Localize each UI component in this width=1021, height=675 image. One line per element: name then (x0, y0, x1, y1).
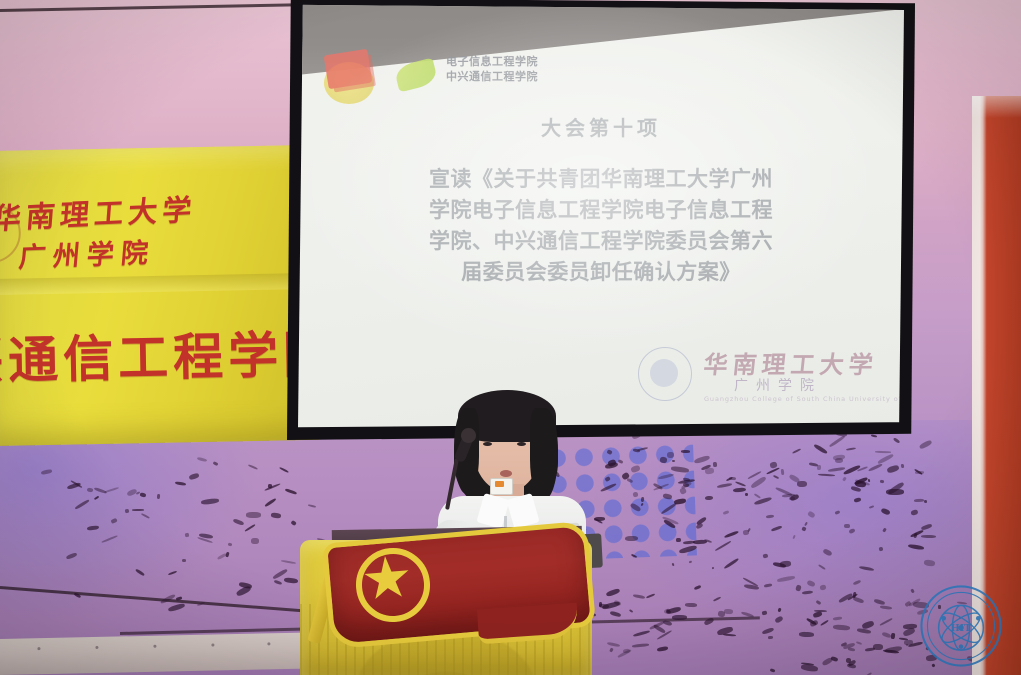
slide-body-line-4: 届委员会委员卸任确认方案》 (394, 257, 808, 288)
wall-speckle (799, 631, 815, 636)
speaker-eye-right (517, 442, 526, 446)
speaker-shirt-badge (490, 478, 513, 495)
wall-speckle (713, 462, 717, 467)
speaker-mouth (500, 470, 512, 477)
logo-wordmark: 电子信息工程学院 中兴通信工程学院 (446, 54, 538, 84)
slide-body-line-2: 学院电子信息工程学院电子信息工程 (394, 195, 808, 226)
logo-book-icon (324, 49, 373, 89)
wall-speckle (705, 467, 715, 474)
atom-emblem-icon: HIT (918, 583, 1004, 669)
svg-text:HIT: HIT (951, 623, 971, 634)
wall-speckle (921, 535, 936, 538)
university-seal-icon (638, 347, 692, 401)
university-english-name: Guangzhou College of South China Univers… (704, 395, 904, 403)
microphone-head (461, 428, 476, 443)
wall-speckle (125, 508, 130, 513)
wall-speckle (251, 537, 259, 543)
logo-wordmark-line1: 电子信息工程学院 (446, 54, 538, 69)
corner-watermark-emblem: HIT (918, 583, 1004, 669)
youth-league-flag-emblem (318, 530, 586, 640)
wall-speckle (676, 538, 681, 543)
wall-speckle (875, 450, 891, 452)
slide-department-logo: 电子信息工程学院 中兴通信工程学院 (324, 48, 574, 102)
wall-speckle (781, 469, 785, 475)
yellow-wall-banner: 华南理工大学 广州学院 兴通信工程学院 (0, 145, 319, 446)
flag-lower-fold (477, 603, 579, 645)
photo-scene: 华南理工大学 广州学院 兴通信工程学院 电子信息工程学院 中兴通信工程学院 大会… (0, 0, 1021, 675)
wall-speckle (132, 509, 144, 511)
wall-speckle (268, 484, 272, 488)
wall-speckle (87, 487, 94, 492)
logo-leaf-icon (393, 58, 438, 93)
wall-speckle (666, 452, 673, 458)
wall-speckle (886, 489, 904, 495)
banner-college-name: 广州学院 (17, 231, 157, 275)
slide-university-logo: 华南理工大学 广州学院 Guangzhou College of South C… (638, 345, 878, 407)
university-college: 广州学院 (734, 375, 822, 395)
projector-screen: 电子信息工程学院 中兴通信工程学院 大会第十项 宣读《关于共青团华南理工大学广州… (298, 4, 904, 429)
slide-body-line-3: 学院、中兴通信工程学院委员会第六 (394, 226, 808, 257)
banner-university-name: 华南理工大学 (0, 186, 198, 237)
wall-speckle (660, 456, 668, 463)
slide-body-text: 宣读《关于共青团华南理工大学广州 学院电子信息工程学院电子信息工程 学院、中兴通… (394, 164, 808, 288)
wall-speckle (745, 493, 748, 496)
logo-wordmark-line2: 中兴通信工程学院 (446, 69, 538, 84)
wall-baseboard (0, 632, 330, 675)
wall-speckle (728, 476, 735, 479)
wall-speckle (844, 524, 850, 529)
speaker-eye-left (483, 442, 492, 446)
wall-speckle (724, 608, 733, 613)
slide-title: 大会第十项 (298, 112, 904, 141)
slide-body-line-1: 宣读《关于共青团华南理工大学广州 (394, 164, 808, 195)
red-banner-highlight (972, 96, 1021, 118)
speaker-hair-side-right (530, 408, 558, 500)
banner-fold-crease (0, 273, 316, 295)
